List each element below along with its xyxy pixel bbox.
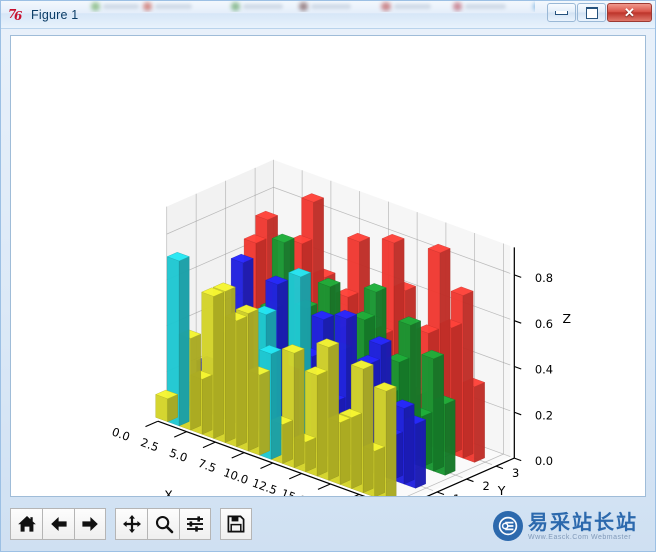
- x-tick-label: 7.5: [196, 456, 218, 475]
- watermark-chinese-text: 易采站长站: [528, 512, 638, 532]
- z-tick-label: 0.0: [535, 454, 553, 468]
- x-axis-label: X: [164, 488, 173, 496]
- save-button[interactable]: [220, 508, 252, 540]
- z-tick-label: 0.2: [535, 408, 553, 422]
- floppy-disk-icon: [226, 514, 246, 534]
- home-button[interactable]: [10, 508, 42, 540]
- minimize-icon: [555, 11, 568, 15]
- maximize-icon: [586, 7, 598, 19]
- z-tick-label: 0.8: [535, 271, 553, 285]
- home-icon: [17, 514, 37, 534]
- watermark-latin-text: Www.Easck.Com Webmaster: [528, 534, 638, 541]
- y-axis-label: Y: [497, 483, 506, 496]
- magnifier-icon: [154, 514, 174, 534]
- arrow-left-icon: [49, 514, 69, 534]
- arrow-right-icon: [80, 514, 100, 534]
- nav-group: [10, 508, 106, 540]
- save-group: [220, 508, 252, 540]
- close-button[interactable]: ✕: [607, 3, 652, 22]
- navigation-toolbar: 易采站长站 Www.Easck.Com Webmaster: [10, 504, 646, 544]
- site-watermark: 易采站长站 Www.Easck.Com Webmaster: [493, 511, 638, 541]
- z-tick-label: 0.4: [535, 363, 553, 377]
- sliders-icon: [185, 514, 205, 534]
- zoom-button[interactable]: [147, 508, 179, 540]
- minimize-button[interactable]: [547, 3, 576, 22]
- bar: [156, 390, 178, 422]
- forward-button[interactable]: [74, 508, 106, 540]
- x-tick-label: 5.0: [167, 446, 189, 465]
- z-tick-label: 0.6: [535, 317, 553, 331]
- x-tick-label: 0.0: [110, 425, 132, 444]
- x-tick-label: 12.5: [250, 476, 279, 496]
- x-tick-label: 2.5: [139, 435, 161, 454]
- bar3d-plot: 0.02.55.07.510.012.515.017.520.001230.00…: [11, 36, 645, 496]
- x-tick-label: 15.0: [279, 486, 308, 496]
- maximize-button[interactable]: [577, 3, 606, 22]
- tools-group: [115, 508, 211, 540]
- x-tick-label: 10.0: [222, 465, 251, 487]
- pan-button[interactable]: [115, 508, 147, 540]
- figure-canvas[interactable]: 0.02.55.07.510.012.515.017.520.001230.00…: [10, 35, 646, 497]
- window-controls: ✕: [546, 3, 652, 22]
- close-icon: ✕: [624, 6, 635, 19]
- z-axis-label: Z: [562, 311, 571, 326]
- move-icon: [122, 514, 142, 534]
- back-button[interactable]: [42, 508, 74, 540]
- title-bar: 76 Figure 1 ✕: [1, 1, 655, 29]
- configure-subplots-button[interactable]: [179, 508, 211, 540]
- y-tick-label: 1: [453, 492, 460, 496]
- window-title: Figure 1: [31, 8, 78, 22]
- figure-window: 76 Figure 1 ✕: [0, 0, 656, 552]
- y-tick-label: 2: [482, 479, 489, 493]
- matplotlib-icon: 76: [8, 7, 26, 23]
- y-tick-label: 3: [512, 466, 519, 480]
- watermark-logo-icon: [493, 511, 523, 541]
- background-ghost-strip: [81, 1, 535, 12]
